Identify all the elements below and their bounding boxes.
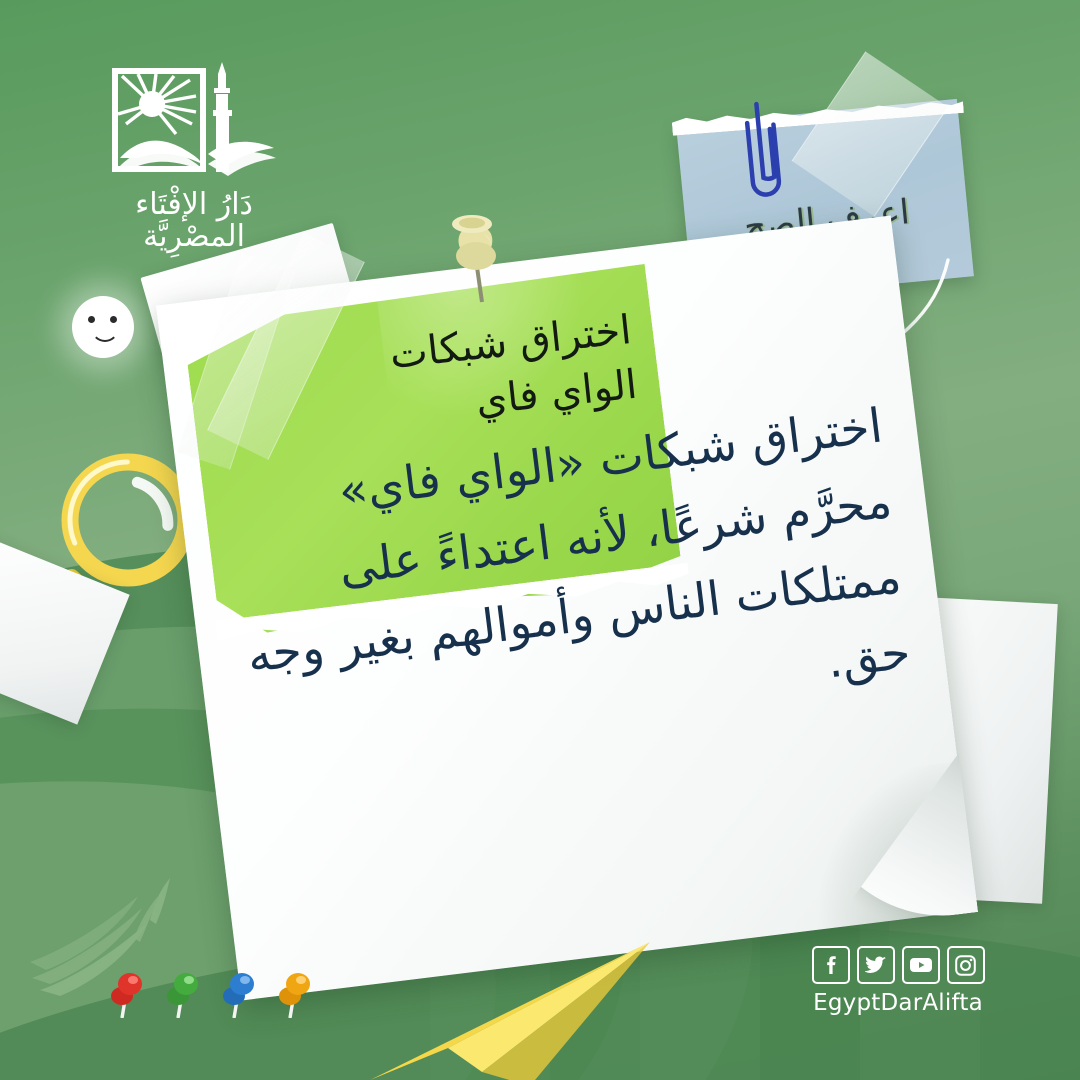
dar-alifta-sunrise-minaret-book-icon: دَارُ الإفْتَاء المصْرِيَّة — [104, 62, 284, 262]
social-handle: EgyptDarAlifta — [806, 990, 990, 1016]
smiley-eye-right — [110, 316, 117, 323]
pushpin-green — [164, 968, 202, 1018]
pushpin-blue — [220, 968, 258, 1018]
brand-logo: دَارُ الإفْتَاء المصْرِيَّة — [104, 62, 284, 262]
paper-plane-icon — [330, 930, 660, 1080]
smiley-mouth — [91, 324, 119, 342]
footer-social: EgyptDarAlifta — [806, 946, 990, 1016]
instagram-icon[interactable] — [947, 946, 985, 984]
social-card-canvas: دَارُ الإفْتَاء المصْرِيَّة اعرف الصح — [0, 0, 1080, 1080]
logo-name-line1: دَارُ الإفْتَاء — [135, 186, 253, 222]
facebook-icon[interactable] — [812, 946, 850, 984]
main-paper-card: اختراق شبكات الواي فاي اختراق شبكات «الو… — [156, 216, 976, 1001]
smiley-eye-left — [88, 316, 95, 323]
pushpin-orange — [276, 968, 314, 1018]
youtube-icon[interactable] — [902, 946, 940, 984]
pushpin-icon — [432, 198, 516, 308]
smiley-face-icon — [72, 296, 134, 358]
pushpin-red — [108, 968, 146, 1018]
pushpin-row — [108, 968, 314, 1018]
social-icon-row — [806, 946, 990, 984]
torn-paper-edge — [671, 89, 964, 136]
twitter-icon[interactable] — [857, 946, 895, 984]
